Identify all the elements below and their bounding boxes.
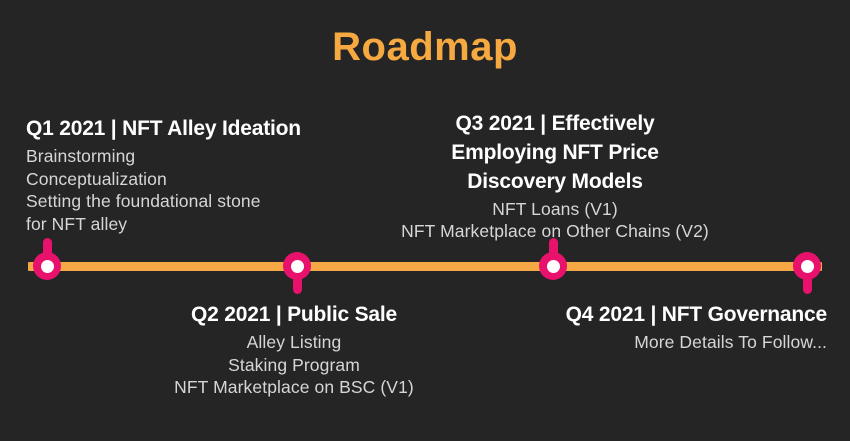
milestone-heading-q4: Q4 2021 | NFT Governance: [566, 302, 827, 329]
marker-dot-q1: [41, 260, 54, 273]
milestone-heading-q3-line2: Employing NFT Price: [401, 140, 709, 167]
marker-dot-q4: [801, 260, 814, 273]
milestone-heading-q3-line3: Discovery Models: [401, 169, 709, 196]
timeline-marker-q3[interactable]: [539, 252, 567, 280]
milestone-block-q3: Q3 2021 | Effectively Employing NFT Pric…: [401, 111, 709, 243]
page-title: Roadmap: [0, 24, 850, 70]
marker-dot-q3: [547, 260, 560, 273]
milestone-detail-q3-1: NFT Loans (V1): [401, 198, 709, 221]
milestone-detail-q1-4: for NFT alley: [26, 213, 301, 236]
milestone-detail-q1-1: Brainstorming: [26, 145, 301, 168]
milestone-block-q2: Q2 2021 | Public Sale Alley Listing Stak…: [174, 302, 414, 399]
milestone-heading-q3-line1: Q3 2021 | Effectively: [401, 111, 709, 138]
roadmap-infographic: Roadmap Q1 2021 | NFT Alley Ideation Bra…: [0, 0, 850, 441]
milestone-detail-q1-3: Setting the foundational stone: [26, 190, 301, 213]
milestone-heading-q1: Q1 2021 | NFT Alley Ideation: [26, 116, 301, 143]
milestone-detail-q2-2: Staking Program: [174, 354, 414, 377]
marker-dot-q2: [291, 260, 304, 273]
milestone-detail-q1-2: Conceptualization: [26, 168, 301, 191]
timeline-marker-q1[interactable]: [33, 252, 61, 280]
milestone-heading-q2: Q2 2021 | Public Sale: [174, 302, 414, 329]
timeline-bar: [28, 262, 822, 271]
timeline-marker-q4[interactable]: [793, 252, 821, 280]
milestone-detail-q4-1: More Details To Follow...: [566, 331, 827, 354]
milestone-block-q1: Q1 2021 | NFT Alley Ideation Brainstormi…: [26, 116, 301, 236]
timeline-marker-q2[interactable]: [283, 252, 311, 280]
milestone-detail-q2-3: NFT Marketplace on BSC (V1): [174, 376, 414, 399]
milestone-block-q4: Q4 2021 | NFT Governance More Details To…: [566, 302, 827, 354]
milestone-detail-q2-1: Alley Listing: [174, 331, 414, 354]
